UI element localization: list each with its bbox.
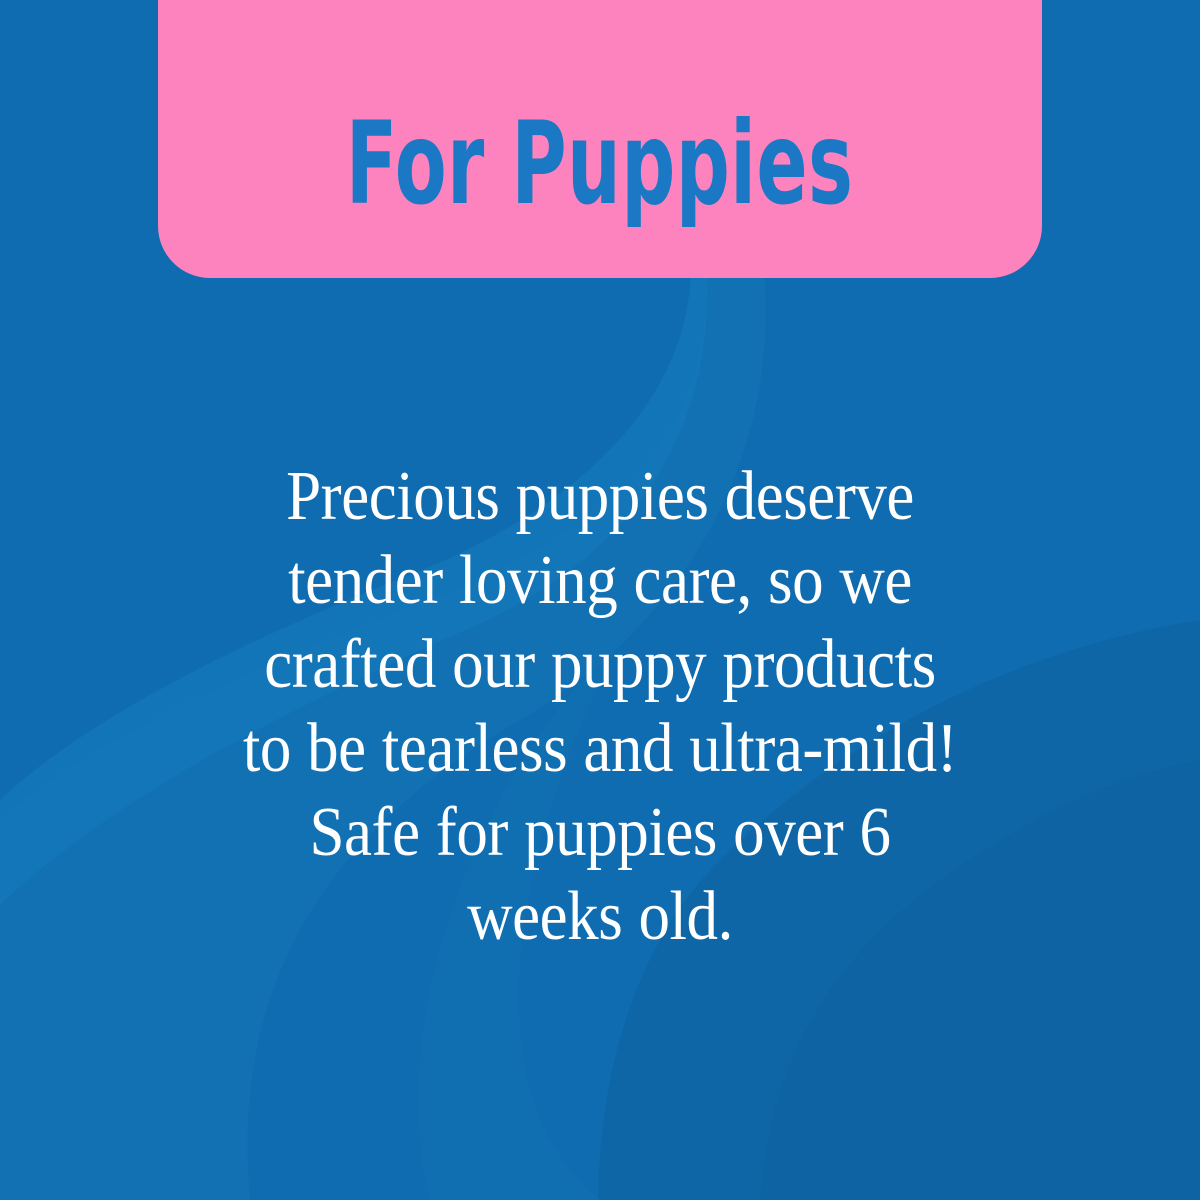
page-title: For Puppies: [346, 108, 854, 222]
promo-card: For Puppies Precious puppies deserve ten…: [0, 0, 1200, 1200]
header-banner: For Puppies: [158, 0, 1042, 278]
description-text: Precious puppies deserve tender loving c…: [150, 455, 1050, 959]
description-line: tender loving care, so we: [195, 539, 1005, 623]
description-line: Precious puppies deserve: [195, 455, 1005, 539]
description-line: to be tearless and ultra-mild!: [195, 707, 1005, 791]
description-line: crafted our puppy products: [195, 623, 1005, 707]
description-line: weeks old.: [195, 875, 1005, 959]
description-line: Safe for puppies over 6: [195, 791, 1005, 875]
